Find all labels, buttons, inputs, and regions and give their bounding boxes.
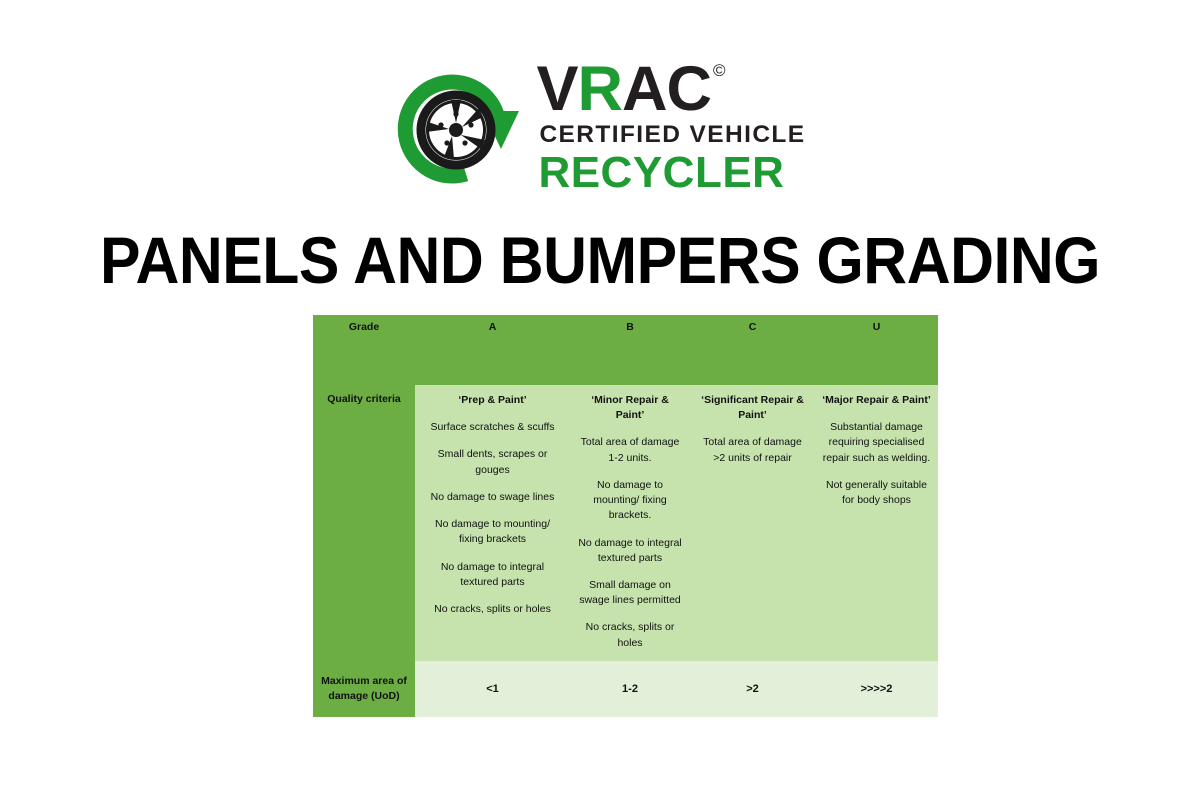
header-grade-a: A <box>415 315 570 385</box>
row-label-quality-criteria: Quality criteria <box>313 385 415 661</box>
criteria-c-point-1: Total area of damage >2 units of repair <box>697 435 808 465</box>
criteria-a-heading: ‘Prep & Paint’ <box>422 393 563 408</box>
criteria-cell-a: ‘Prep & Paint’ Surface scratches & scuff… <box>415 385 570 661</box>
criteria-b-point-4: Small damage on swage lines permitted <box>577 578 683 608</box>
criteria-b-point-3: No damage to integral textured parts <box>577 536 683 566</box>
table-row-quality-criteria: Quality criteria ‘Prep & Paint’ Surface … <box>313 385 938 661</box>
criteria-a-point-3: No damage to swage lines <box>422 490 563 505</box>
criteria-u-heading: ‘Major Repair & Paint’ <box>822 393 931 408</box>
criteria-a-point-5: No damage to integral textured parts <box>422 560 563 590</box>
criteria-a-point-4: No damage to mounting/ fixing brackets <box>422 517 563 547</box>
copyright-icon: © <box>713 62 725 79</box>
brand-logo: VRAC© CERTIFIED VEHICLE RECYCLER <box>0 55 1200 200</box>
table-header-row: Grade A B C U <box>313 315 938 385</box>
criteria-u-point-1: Substantial damage requiring specialised… <box>822 420 931 466</box>
criteria-b-point-1: Total area of damage 1-2 units. <box>577 435 683 465</box>
header-grade-b: B <box>570 315 690 385</box>
header-grade-label: Grade <box>313 315 415 385</box>
page-title: PANELS AND BUMPERS GRADING <box>48 222 1152 298</box>
criteria-cell-b: ‘Minor Repair & Paint’ Total area of dam… <box>570 385 690 661</box>
logo-subbrand: RECYCLER <box>538 151 784 195</box>
max-area-value-u: >>>>2 <box>815 661 938 717</box>
recycle-wheel-icon <box>394 64 526 192</box>
row-label-max-area: Maximum area of damage (UoD) <box>313 661 415 717</box>
max-area-value-b: 1-2 <box>570 661 690 717</box>
header-grade-c: C <box>690 315 815 385</box>
criteria-b-point-2: No damage to mounting/ fixing brackets. <box>577 478 683 524</box>
criteria-u-point-2: Not generally suitable for body shops <box>822 478 931 508</box>
criteria-cell-u: ‘Major Repair & Paint’ Substantial damag… <box>815 385 938 661</box>
logo-wordmark: VRAC© CERTIFIED VEHICLE RECYCLER <box>536 60 805 194</box>
criteria-c-heading: ‘Significant Repair & Paint’ <box>697 393 808 423</box>
grading-table: Grade A B C U Quality criteria ‘Prep & P… <box>313 315 938 717</box>
criteria-b-point-5: No cracks, splits or holes <box>577 620 683 650</box>
header-grade-u: U <box>815 315 938 385</box>
logo-tagline: CERTIFIED VEHICLE <box>539 123 805 148</box>
logo-vrac-text: VRAC© <box>536 60 724 120</box>
max-area-value-a: <1 <box>415 661 570 717</box>
table-row-max-area: Maximum area of damage (UoD) <1 1-2 >2 >… <box>313 661 938 717</box>
criteria-b-heading: ‘Minor Repair & Paint’ <box>577 393 683 423</box>
criteria-a-point-6: No cracks, splits or holes <box>422 602 563 617</box>
logo-letters-ac: AC <box>622 60 711 120</box>
logo-letter-v: V <box>536 60 577 120</box>
criteria-cell-c: ‘Significant Repair & Paint’ Total area … <box>690 385 815 661</box>
criteria-a-point-1: Surface scratches & scuffs <box>422 420 563 435</box>
logo-inner: VRAC© CERTIFIED VEHICLE RECYCLER <box>394 60 805 194</box>
logo-letter-r: R <box>577 60 622 120</box>
max-area-value-c: >2 <box>690 661 815 717</box>
criteria-a-point-2: Small dents, scrapes or gouges <box>422 447 563 477</box>
